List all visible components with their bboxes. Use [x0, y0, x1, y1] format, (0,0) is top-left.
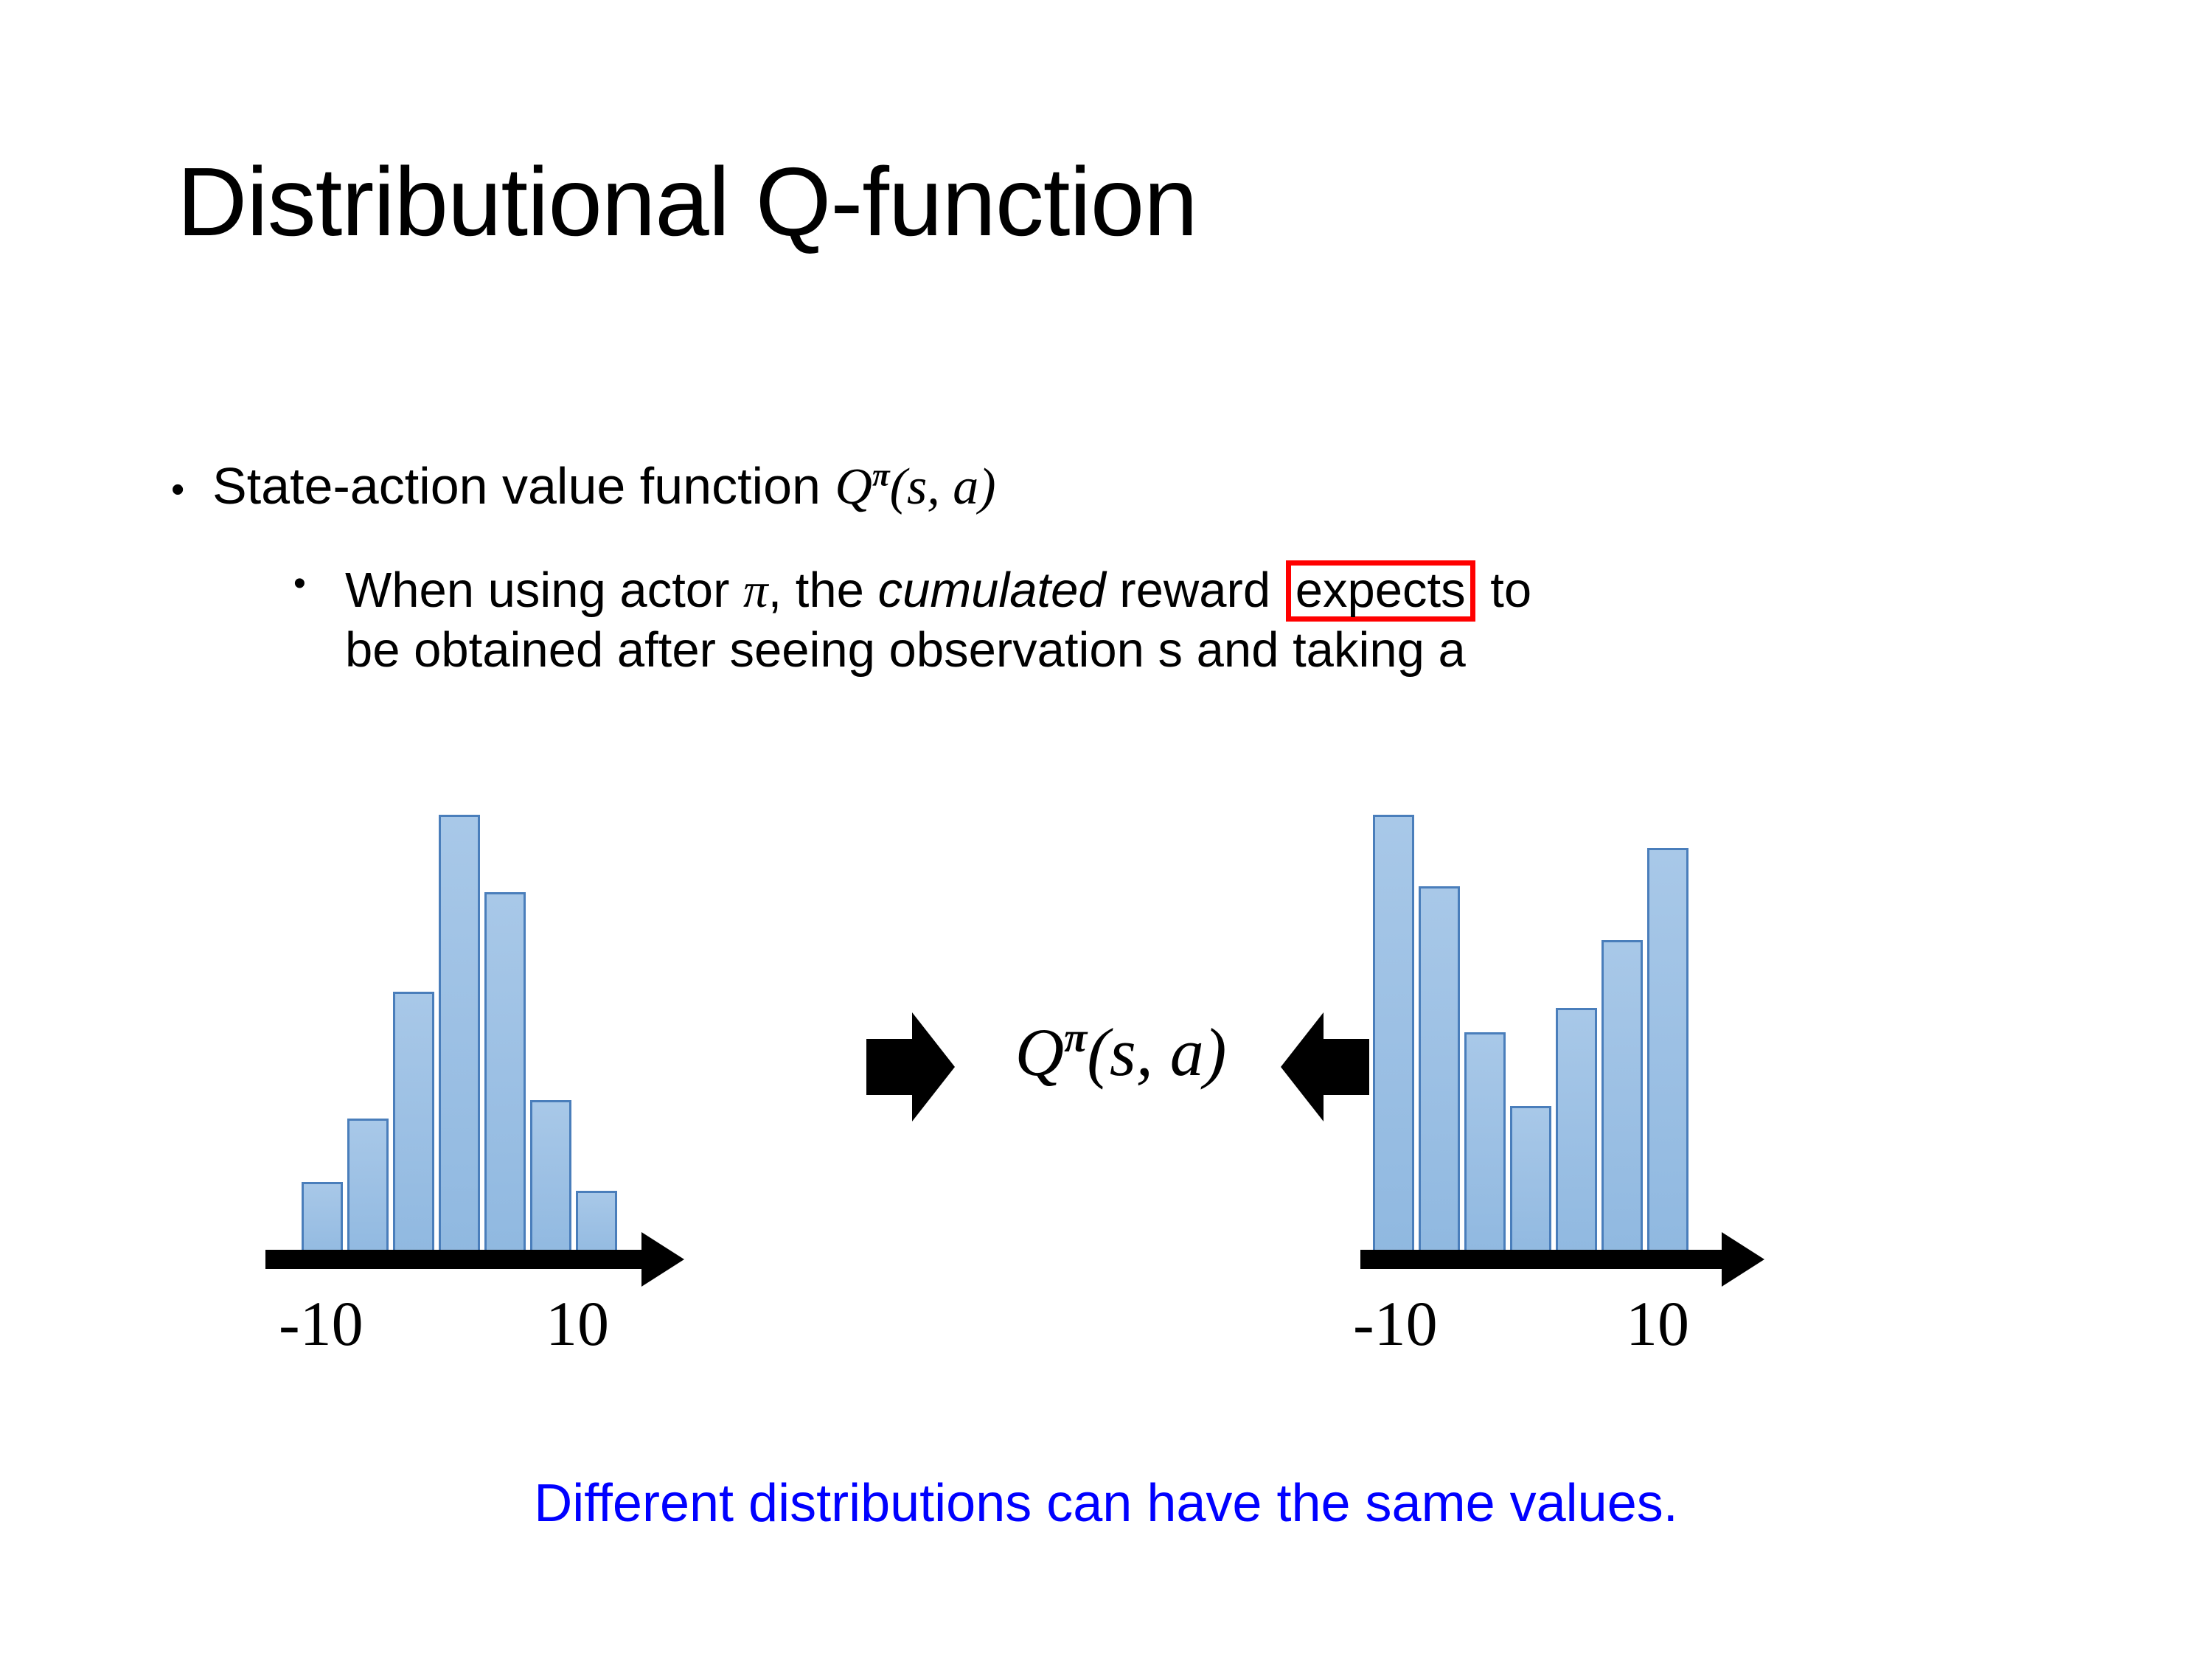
bullet-marker-icon: •	[171, 468, 212, 512]
bar	[1464, 1032, 1506, 1268]
bar	[530, 1100, 571, 1268]
axis-arrowhead-icon	[1722, 1232, 1764, 1287]
page-title: Distributional Q-function	[177, 151, 1197, 254]
pi-symbol: π	[743, 563, 768, 618]
bar	[1601, 940, 1643, 1268]
bar	[1373, 815, 1414, 1268]
bullet-level1-text: State-action value function	[212, 457, 835, 515]
l2-segment-a: When using actor	[345, 563, 743, 618]
pi-superscript: π	[1064, 1015, 1087, 1061]
q-formula: Qπ(s, a)	[962, 1006, 1279, 1098]
highlighted-word-expects: expects	[1286, 560, 1475, 622]
bullet-level1: •State-action value function Qπ(s, a)	[171, 457, 996, 517]
bar	[347, 1119, 389, 1268]
axis-tick-max-right: 10	[1626, 1292, 1689, 1355]
chart-left-distribution: -10 10	[265, 796, 929, 1268]
left-arrow-icon	[1281, 1012, 1369, 1121]
q-symbol: Q	[1015, 1015, 1064, 1090]
axis-line	[1360, 1250, 1729, 1269]
axis-line	[265, 1250, 649, 1269]
bullet-marker-icon: •	[293, 563, 306, 605]
chart-right-distribution: -10 10	[1360, 796, 2024, 1268]
bar	[1419, 886, 1460, 1268]
bar	[1556, 1008, 1597, 1268]
bars-container-left	[265, 815, 929, 1268]
bar	[1510, 1106, 1551, 1268]
bullet-level2: • When using actor π, the cumulated rewa…	[293, 560, 2004, 679]
bar	[1647, 848, 1688, 1268]
bar	[393, 992, 434, 1268]
axis-tick-min-left: -10	[279, 1292, 364, 1355]
bars-container-right	[1360, 815, 2024, 1268]
bar	[439, 815, 480, 1268]
q-arguments: (s, a)	[890, 459, 996, 515]
bar	[484, 892, 526, 1268]
l2-segment-d: to	[1477, 563, 1532, 618]
emphasis-cumulated: cumulated	[878, 563, 1106, 618]
q-value-block: Qπ(s, a)	[866, 999, 1368, 1135]
axis-tick-max-left: 10	[546, 1292, 609, 1355]
q-arguments: (s, a)	[1087, 1015, 1226, 1090]
right-arrow-icon	[866, 1012, 955, 1121]
x-axis-left	[265, 1250, 929, 1269]
axis-arrowhead-icon	[641, 1232, 684, 1287]
x-axis-right	[1360, 1250, 2024, 1269]
l2-line2: be obtained after seeing observation s a…	[345, 622, 1466, 678]
bullet-level2-text: When using actor π, the cumulated reward…	[345, 560, 2004, 679]
pi-superscript: π	[872, 458, 890, 493]
l2-segment-c: reward	[1106, 563, 1284, 618]
q-symbol: Q	[835, 459, 872, 515]
axis-tick-min-right: -10	[1353, 1292, 1438, 1355]
l2-segment-b: , the	[768, 563, 878, 618]
slide-caption: Different distributions can have the sam…	[0, 1473, 2212, 1534]
